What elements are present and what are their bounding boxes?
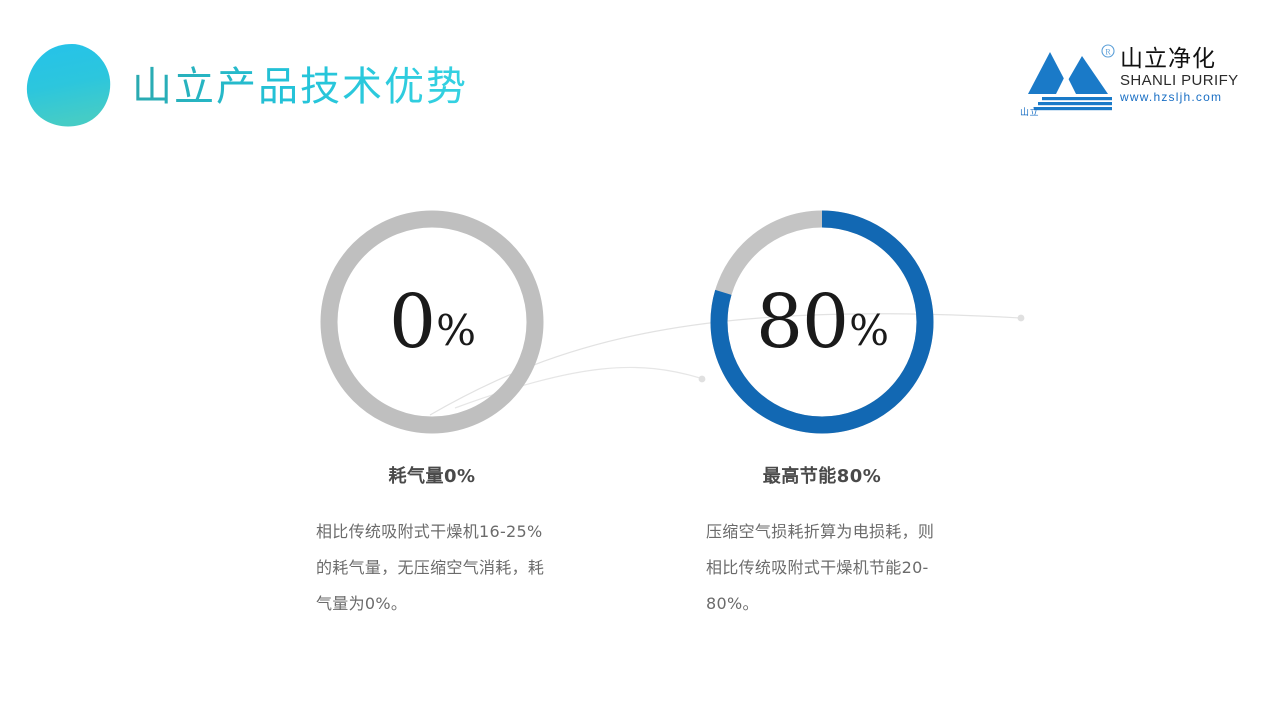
- donut-unit-0: %: [436, 310, 476, 352]
- stat-description-1: 压缩空气损耗折算为电损耗，则相比传统吸附式干燥机节能20-80%。: [706, 514, 938, 622]
- page-title: 山立产品技术优势: [132, 60, 468, 114]
- stat-description-0: 相比传统吸附式干燥机16-25%的耗气量，无压缩空气消耗，耗气量为0%。: [316, 514, 548, 622]
- page-header: 山立产品技术优势 R 山立 山立净化 SHANLI PURIFY www.hzs…: [0, 0, 1280, 150]
- donut-center-1: 80 %: [710, 210, 934, 434]
- brand-text-block: 山立净化 SHANLI PURIFY www.hzsljh.com: [1120, 46, 1252, 105]
- brand-url: www.hzsljh.com: [1120, 90, 1252, 105]
- donut-chart-1: 80 %: [710, 210, 934, 434]
- donut-chart-0: 0 %: [320, 210, 544, 434]
- brand-name-en: SHANLI PURIFY: [1120, 72, 1252, 89]
- donut-value-1: 80: [756, 285, 848, 359]
- stat-label-1: 最高节能80%: [692, 462, 952, 488]
- stat-column-0: 0 % 耗气量0% 相比传统吸附式干燥机16-25%的耗气量，无压缩空气消耗，耗…: [302, 210, 562, 622]
- stats-row: 0 % 耗气量0% 相比传统吸附式干燥机16-25%的耗气量，无压缩空气消耗，耗…: [0, 210, 1280, 670]
- svg-text:R: R: [1105, 48, 1111, 57]
- stat-label-0: 耗气量0%: [302, 462, 562, 488]
- donut-center-0: 0 %: [320, 210, 544, 434]
- donut-unit-1: %: [849, 310, 889, 352]
- stat-column-1: 80 % 最高节能80% 压缩空气损耗折算为电损耗，则相比传统吸附式干燥机节能2…: [692, 210, 952, 622]
- donut-value-0: 0: [389, 285, 435, 359]
- brand-logo: R 山立 山立净化 SHANLI PURIFY www.hzsljh.com: [1020, 44, 1252, 120]
- brand-sub-label: 山立: [1020, 105, 1039, 118]
- blob-shape-icon: [24, 42, 112, 128]
- brand-name-cn: 山立净化: [1120, 46, 1252, 72]
